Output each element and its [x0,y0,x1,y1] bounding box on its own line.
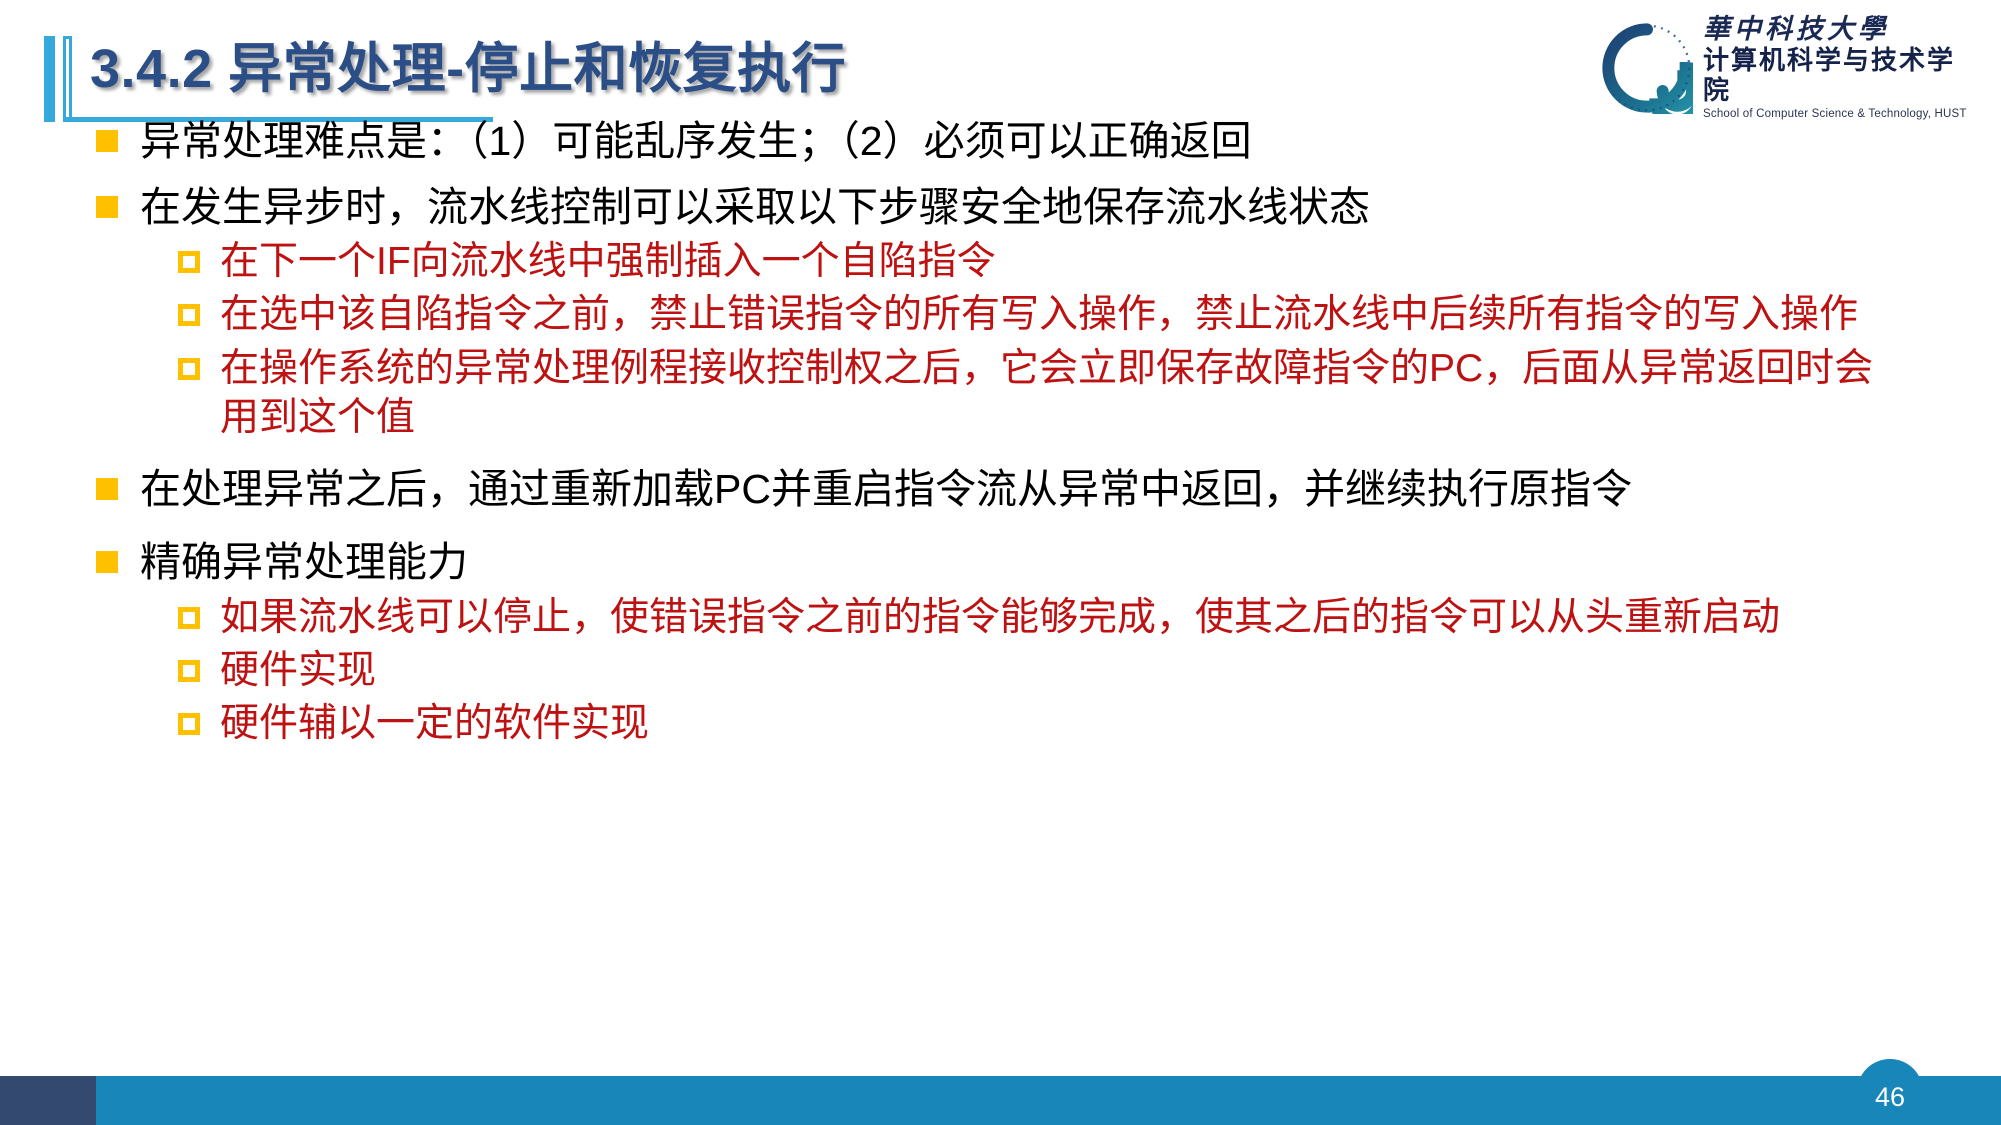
sub-bullet-text: 在选中该自陷指令之前，禁止错误指令的所有写入操作，禁止流水线中后续所有指令的写入… [220,290,1858,339]
title-accent-bar-thin [63,36,72,122]
page-number-badge: 46 [1857,1059,1923,1125]
bullet-square-filled-icon [96,130,118,152]
sub-bullet-text: 在下一个IF向流水线中强制插入一个自陷指令 [220,237,996,286]
bullet-text: 异常处理难点是：（1）可能乱序发生；（2）必须可以正确返回 [140,116,1252,168]
sub-bullet-item: 硬件辅以一定的软件实现 [0,699,2001,748]
footer-bar [0,1076,2001,1125]
spacer [0,172,2001,182]
footer-left-block [0,1076,96,1125]
sub-bullet-item: 在操作系统的异常处理例程接收控制权之后，它会立即保存故障指令的PC，后面从异常返… [0,344,2001,442]
bullet-square-hollow-icon [178,713,200,735]
bullet-text: 在处理异常之后，通过重新加载PC并重启指令流从异常中返回，并继续执行原指令 [140,464,1632,516]
sub-bullet-text: 硬件实现 [220,646,376,695]
page-title: 3.4.2 异常处理-停止和恢复执行 [90,24,846,103]
bullet-item: 在发生异步时，流水线控制可以采取以下步骤安全地保存流水线状态 [0,182,2001,234]
bullet-square-hollow-icon [178,660,200,682]
slide-content: 异常处理难点是：（1）可能乱序发生；（2）必须可以正确返回 在发生异步时，流水线… [0,116,2001,753]
slide-title-bar: 3.4.2 异常处理-停止和恢复执行 華中科技大學 计算机科学与技术学院 Sch… [0,0,2001,130]
sub-bullet-item: 硬件实现 [0,646,2001,695]
sub-bullet-text: 如果流水线可以停止，使错误指令之前的指令能够完成，使其之后的指令可以从头重新启动 [220,593,1780,642]
sub-bullet-text: 在操作系统的异常处理例程接收控制权之后，它会立即保存故障指令的PC，后面从异常返… [220,344,1891,442]
bullet-square-hollow-icon [178,304,200,326]
bullet-square-filled-icon [96,551,118,573]
hust-spiral-icon [1601,22,1693,114]
bullet-square-filled-icon [96,478,118,500]
bullet-square-filled-icon [96,196,118,218]
bullet-text: 精确异常处理能力 [140,537,468,589]
spacer [0,446,2001,464]
bullet-text: 在发生异步时，流水线控制可以采取以下步骤安全地保存流水线状态 [140,182,1370,234]
bullet-item: 在处理异常之后，通过重新加载PC并重启指令流从异常中返回，并继续执行原指令 [0,464,2001,516]
bullet-square-hollow-icon [178,607,200,629]
slide-footer: 46 [0,1076,2001,1125]
page-number: 46 [1875,1084,1905,1125]
logo-text-block: 華中科技大學 计算机科学与技术学院 School of Computer Sci… [1703,16,1981,121]
logo-school-name: 计算机科学与技术学院 [1703,46,1981,106]
title-accent-bar-thick [44,36,55,122]
hust-logo: 華中科技大學 计算机科学与技术学院 School of Computer Sci… [1601,18,1981,118]
bullet-item: 精确异常处理能力 [0,537,2001,589]
sub-bullet-item: 如果流水线可以停止，使错误指令之前的指令能够完成，使其之后的指令可以从头重新启动 [0,593,2001,642]
sub-bullet-item: 在选中该自陷指令之前，禁止错误指令的所有写入操作，禁止流水线中后续所有指令的写入… [0,290,2001,339]
logo-university-name: 華中科技大學 [1703,16,1981,43]
bullet-square-hollow-icon [178,358,200,380]
bullet-square-hollow-icon [178,251,200,273]
spacer [0,519,2001,537]
sub-bullet-item: 在下一个IF向流水线中强制插入一个自陷指令 [0,237,2001,286]
sub-bullet-text: 硬件辅以一定的软件实现 [220,699,649,748]
bullet-item: 异常处理难点是：（1）可能乱序发生；（2）必须可以正确返回 [0,116,2001,168]
